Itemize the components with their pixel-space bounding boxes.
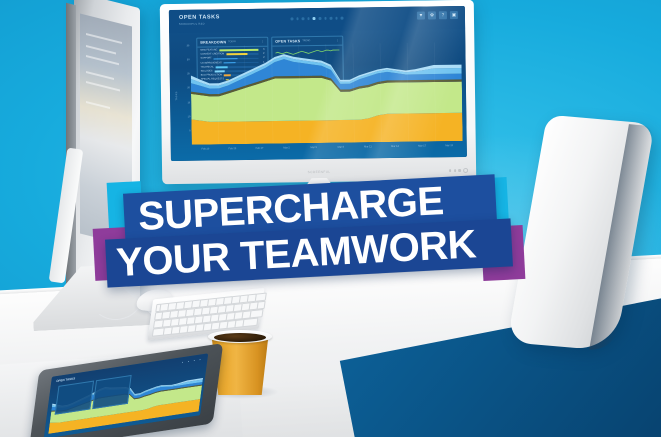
- tablet-dashboard-title: OPEN TASKS: [56, 376, 76, 383]
- dashboard-subtitle: SCREENFUL R&D: [179, 22, 205, 25]
- scene: OPEN TASKS SCREENFUL R&D ▼✿?▣ BREAKDOWN …: [0, 0, 661, 437]
- filter-icon[interactable]: ▼: [417, 11, 425, 19]
- open-tasks-panel-title: OPEN TASKS: [275, 39, 300, 43]
- pager-dot-1[interactable]: [296, 17, 299, 20]
- dashboard-toolbar[interactable]: ▼✿?▣: [417, 11, 458, 20]
- panel-icon[interactable]: ▣: [450, 11, 458, 19]
- x-axis-tick: Mar 20: [445, 144, 453, 147]
- chart-plot-area: [190, 42, 462, 145]
- dashboard-title: OPEN TASKS: [179, 14, 220, 21]
- tablet-breakdown-panel: [55, 381, 94, 415]
- monitor-buttons[interactable]: [449, 168, 468, 173]
- pager-dot-3[interactable]: [307, 17, 310, 20]
- breakdown-panel-meta: TODAY: [228, 41, 236, 43]
- keyboard-key: [242, 318, 258, 328]
- pager-dot-5[interactable]: [318, 17, 321, 20]
- y-axis-tick: 15: [187, 101, 190, 104]
- stacked-area-chart: TASKS 5101520253035 Feb 20Feb 23Feb 27Ma…: [177, 42, 463, 157]
- x-axis-tick: Mar 11: [364, 145, 372, 148]
- monitor-brand-logo: SCREENFUL: [308, 170, 331, 174]
- tablet-device: OPEN TASKS▪ ▪ ▪ ▪: [33, 358, 219, 436]
- x-axis-tick: Mar 14: [391, 145, 399, 148]
- y-axis-tick: 20: [187, 87, 190, 90]
- y-axis-tick: 10: [188, 115, 191, 118]
- pager-dot-7[interactable]: [330, 17, 333, 20]
- headline-banner: SUPERCHARGE YOUR TEAMWORK: [0, 178, 661, 293]
- breakdown-panel-menu-icon[interactable]: ⋮: [261, 40, 264, 44]
- x-axis-tick: Mar 5: [310, 146, 316, 149]
- desktop-monitor: OPEN TASKS SCREENFUL R&D ▼✿?▣ BREAKDOWN …: [160, 0, 476, 184]
- x-axis-tick: Feb 20: [201, 148, 209, 151]
- open-tasks-panel-meta: TREND: [302, 40, 310, 42]
- help-icon[interactable]: ?: [439, 11, 447, 19]
- chart-x-axis: Feb 20Feb 23Feb 27Mar 2Mar 5Mar 8Mar 11M…: [192, 141, 463, 157]
- x-axis-tick: Mar 2: [283, 146, 289, 149]
- x-axis-tick: Mar 17: [418, 144, 426, 147]
- pager-dot-9[interactable]: [341, 17, 344, 20]
- monitor-menu-button[interactable]: [449, 170, 451, 172]
- y-axis-tick: 30: [187, 58, 190, 61]
- pager-dot-6[interactable]: [324, 17, 327, 20]
- pager-dot-8[interactable]: [335, 17, 338, 20]
- breakdown-panel-title: BREAKDOWN: [200, 40, 226, 44]
- pager-dot-0[interactable]: [290, 17, 293, 20]
- x-axis-tick: Feb 27: [256, 147, 264, 150]
- coffee-liquid: [214, 333, 266, 342]
- open-tasks-panel-menu-icon[interactable]: ⋮: [336, 39, 339, 43]
- dashboard: OPEN TASKS SCREENFUL R&D ▼✿?▣ BREAKDOWN …: [169, 6, 467, 161]
- y-axis-tick: 25: [187, 73, 190, 76]
- monitor-plus-button[interactable]: [458, 169, 460, 171]
- tablet-toolbar-icons: ▪ ▪ ▪ ▪: [182, 357, 203, 364]
- x-axis-tick: Mar 8: [338, 146, 344, 149]
- tablet-open-tasks-panel: [92, 375, 131, 409]
- y-axis-tick: 5: [189, 129, 190, 132]
- y-axis-tick: 35: [187, 44, 190, 47]
- monitor-power-button[interactable]: [463, 168, 468, 173]
- chart-y-axis-title: TASKS: [175, 91, 178, 100]
- x-axis-tick: Feb 23: [229, 147, 237, 150]
- monitor-screen: OPEN TASKS SCREENFUL R&D ▼✿?▣ BREAKDOWN …: [169, 6, 467, 161]
- pager-dot-4[interactable]: [313, 17, 316, 20]
- monitor-minus-button[interactable]: [454, 169, 456, 171]
- gear-icon[interactable]: ✿: [428, 11, 436, 19]
- stacked-area-svg: [190, 42, 462, 145]
- pager-dot-2[interactable]: [302, 17, 305, 20]
